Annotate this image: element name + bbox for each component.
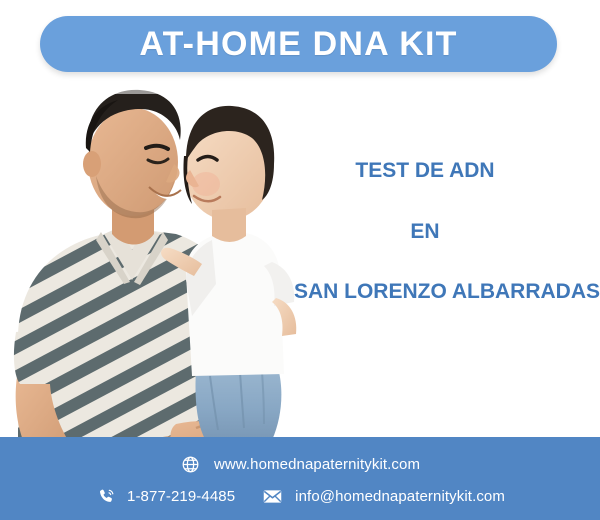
- phone-icon: [95, 485, 117, 507]
- poster-root: AT-HOME DNA KIT: [0, 0, 600, 520]
- footer-website-item[interactable]: www.homednapaternitykit.com: [180, 453, 420, 475]
- page-title: AT-HOME DNA KIT: [139, 27, 457, 61]
- header-band: AT-HOME DNA KIT: [0, 0, 600, 86]
- footer-email-text: info@homednapaternitykit.com: [295, 488, 505, 505]
- headline-line-3: SAN LORENZO ALBARRADAS: [272, 281, 600, 302]
- footer-email-item[interactable]: info@homednapaternitykit.com: [261, 485, 505, 507]
- globe-icon: [180, 453, 202, 475]
- headline-block: TEST DE ADN EN SAN LORENZO ALBARRADAS: [250, 160, 600, 302]
- footer-website-row: www.homednapaternitykit.com: [0, 453, 600, 475]
- child-jeans: [196, 368, 282, 444]
- footer-band: www.homednapaternitykit.com 1-877-219-44…: [0, 437, 600, 520]
- envelope-icon: [261, 485, 283, 507]
- headline-line-2: EN: [250, 221, 600, 242]
- footer-website-text: www.homednapaternitykit.com: [214, 456, 420, 473]
- headline-line-1: TEST DE ADN: [250, 160, 600, 181]
- title-pill: AT-HOME DNA KIT: [40, 16, 557, 72]
- footer-phone-text: 1-877-219-4485: [127, 488, 235, 505]
- footer-phone-item[interactable]: 1-877-219-4485: [95, 485, 235, 507]
- footer-contact-row: 1-877-219-4485 info@homednapaternitykit.…: [0, 485, 600, 507]
